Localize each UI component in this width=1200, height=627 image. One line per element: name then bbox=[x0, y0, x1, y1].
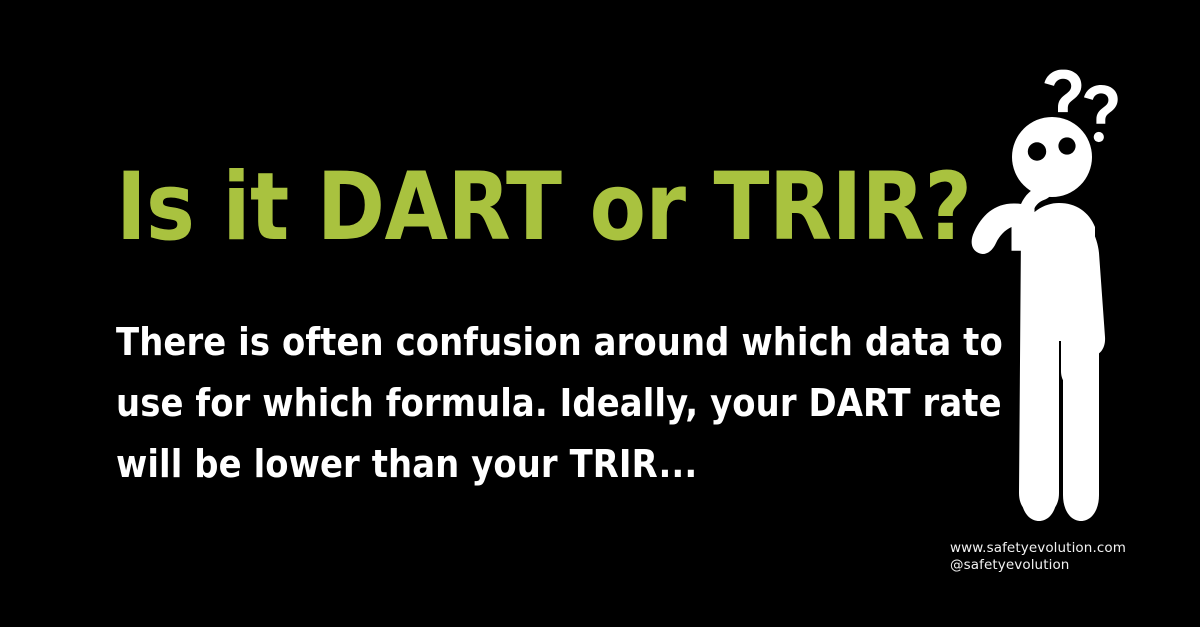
social-graphic-canvas: Is it DART or TRIR? There is often confu… bbox=[0, 0, 1200, 627]
legs bbox=[1021, 345, 1099, 521]
body-line-2: use for which formula. Ideally, your DAR… bbox=[116, 373, 898, 434]
body-line-3: will be lower than your TRIR... bbox=[116, 434, 898, 495]
head bbox=[1012, 117, 1092, 197]
page-title: Is it DART or TRIR? bbox=[116, 160, 853, 256]
website-url[interactable]: www.safetyevolution.com bbox=[950, 540, 1126, 557]
social-handle[interactable]: @safetyevolution bbox=[950, 557, 1126, 574]
confused-person-illustration bbox=[925, 45, 1175, 535]
body-copy: There is often confusion around which da… bbox=[116, 312, 906, 495]
body-line-1: There is often confusion around which da… bbox=[116, 312, 898, 373]
footer-credits: www.safetyevolution.com @safetyevolution bbox=[950, 540, 1126, 574]
